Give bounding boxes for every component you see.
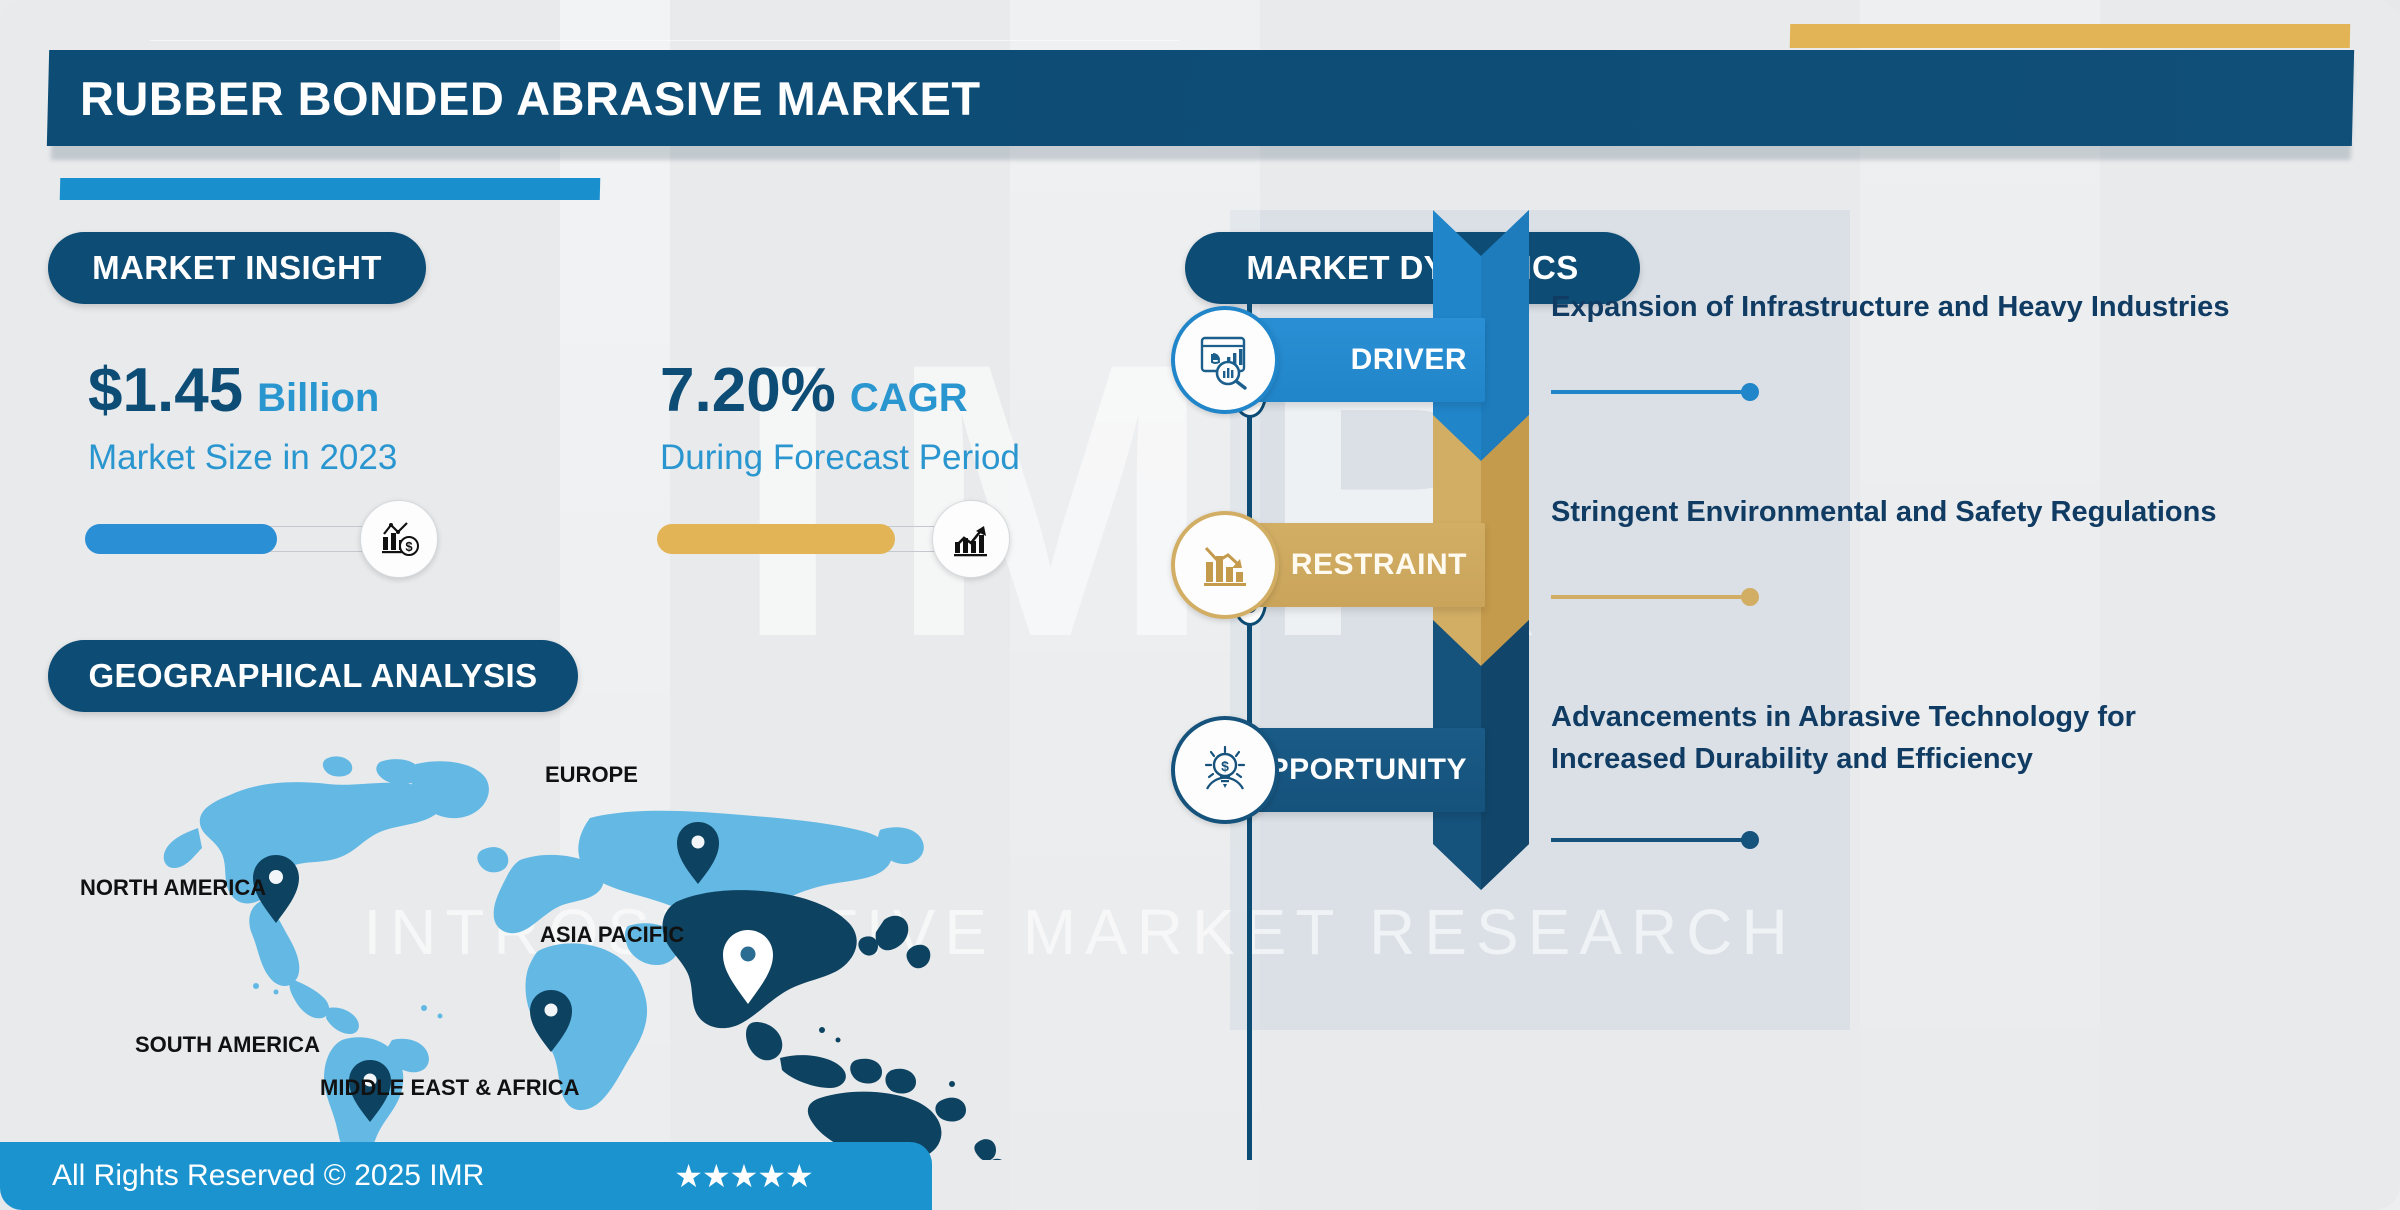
driver-label: DRIVER	[1351, 343, 1467, 377]
page-title: RUBBER BONDED ABRASIVE MARKET	[80, 71, 981, 126]
title-hairline	[150, 40, 1180, 41]
rating-stars: ★★★★★	[674, 1157, 812, 1195]
dynamics-row-opportunity: OPPORTUNITY $	[1185, 690, 2365, 820]
svg-text:$: $	[405, 539, 413, 554]
driver-leader-line	[1551, 390, 1751, 394]
restraint-label: RESTRAINT	[1291, 548, 1467, 582]
market-size-unit: Billion	[257, 378, 379, 418]
map-label-europe: EUROPE	[545, 762, 638, 788]
market-size-label: Market Size in 2023	[88, 438, 397, 478]
market-size-bar-track	[88, 526, 388, 552]
growth-chart-arrow-icon	[932, 500, 1010, 578]
map-highlight-asia-pacific	[663, 890, 1007, 1160]
map-label-south-america: SOUTH AMERICA	[135, 1032, 320, 1058]
cagr-bar-fill	[657, 524, 895, 554]
footer-bar: All Rights Reserved © 2025 IMR ★★★★★	[0, 1142, 932, 1210]
map-label-middle-east-africa: MIDDLE EAST & AFRICA	[320, 1075, 580, 1101]
dynamics-row-restraint: RESTRAINT Stringent Environmental and Sa…	[1185, 485, 2365, 615]
geographical-analysis-pill: GEOGRAPHICAL ANALYSIS	[48, 640, 578, 712]
metric-market-size: $1.45 Billion Market Size in 2023	[88, 360, 397, 478]
metric-value-row: $1.45 Billion	[88, 360, 397, 422]
metric-cagr: 7.20% CAGR During Forecast Period	[660, 360, 1020, 478]
opportunity-description: Advancements in Abrasive Technology for …	[1551, 696, 2231, 780]
world-map-svg	[80, 740, 1100, 1160]
market-dynamics-list: DRIVER Expansion of Inf	[1185, 300, 2365, 1200]
market-insight-pill: MARKET INSIGHT	[48, 232, 426, 304]
market-size-value: $1.45	[88, 360, 243, 422]
svg-text:$: $	[1221, 758, 1229, 774]
restraint-description: Stringent Environmental and Safety Regul…	[1551, 491, 2231, 533]
opportunity-leader-line	[1551, 838, 1751, 842]
cagr-unit: CAGR	[850, 378, 968, 418]
market-size-bar-fill	[85, 524, 277, 554]
driver-description: Expansion of Infrastructure and Heavy In…	[1551, 286, 2231, 328]
lightbulb-dollar-icon: $	[1171, 716, 1279, 824]
gold-accent-strip	[1790, 24, 2351, 48]
metric-value-row: 7.20% CAGR	[660, 360, 1020, 422]
dashboard-analytics-icon	[1171, 306, 1279, 414]
title-underbar	[60, 178, 601, 200]
map-label-asia-pacific: ASIA PACIFIC	[540, 922, 684, 948]
cagr-value: 7.20%	[660, 360, 836, 422]
declining-bar-chart-icon	[1171, 511, 1279, 619]
cagr-progress	[660, 526, 1010, 552]
world-map: NORTH AMERICA SOUTH AMERICA MIDDLE EAST …	[80, 740, 1100, 1160]
restraint-leader-line	[1551, 595, 1751, 599]
map-label-north-america: NORTH AMERICA	[80, 875, 266, 901]
title-bar: RUBBER BONDED ABRASIVE MARKET	[47, 50, 2354, 146]
infographic-canvas: IMR INTROSPECTIVE MARKET RESEARCH RUBBER…	[0, 0, 2400, 1210]
cagr-label: During Forecast Period	[660, 438, 1020, 478]
bar-chart-dollar-icon: $	[360, 500, 438, 578]
dynamics-row-driver: DRIVER Expansion of Inf	[1185, 280, 2365, 410]
cagr-bar-track	[660, 526, 960, 552]
market-size-progress: $	[88, 526, 438, 552]
copyright-text: All Rights Reserved © 2025 IMR	[52, 1159, 484, 1193]
